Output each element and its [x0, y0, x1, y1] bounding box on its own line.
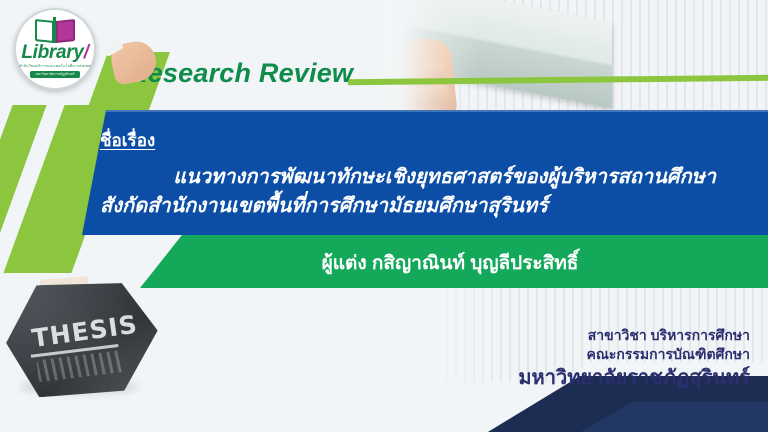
- thesis-chalkboard: THESIS: [3, 279, 161, 399]
- research-title: แนวทางการพัฒนาทักษะเชิงยุทธศาสตร์ของผู้บ…: [96, 163, 756, 221]
- affiliation-faculty: คณะกรรมการบัณฑิตศึกษา: [518, 345, 750, 364]
- library-logo: Library/ สำนักวิทยบริการและเทคโนโลยีสารส…: [14, 8, 96, 90]
- logo-subtitle: สำนักวิทยบริการและเทคโนโลยีสารสนเทศ: [19, 63, 90, 69]
- photo-fade-overlay: [380, 0, 768, 118]
- research-title-line-2: สังกัดสำนักงานเขตพื้นที่การศึกษามัธยมศึก…: [96, 192, 756, 221]
- slide-canvas: Research Review Library/ สำนักวิทยบริการ…: [0, 0, 768, 432]
- research-title-line-1: แนวทางการพัฒนาทักษะเชิงยุทธศาสตร์ของผู้บ…: [96, 163, 756, 192]
- page-title: Research Review: [128, 58, 353, 89]
- affiliation-university: มหาวิทยาลัยราชภัฏสุรินทร์: [518, 365, 750, 392]
- title-label: ชื่อเรื่อง: [100, 127, 155, 154]
- affiliation-department: สาขาวิชา บริหารการศึกษา: [518, 326, 750, 345]
- library-shelf-photo-top: [380, 0, 768, 118]
- band-highlight: [82, 110, 768, 112]
- logo-wordmark: Library/: [21, 43, 88, 62]
- book-page-right: [56, 19, 75, 43]
- author-name: ผู้แต่ง กสิญาณินท์ บุญลีประสิทธิ์: [190, 248, 710, 278]
- affiliation-block: สาขาวิชา บริหารการศึกษา คณะกรรมการบัณฑิต…: [518, 326, 750, 392]
- logo-wordmark-text: Library: [21, 42, 83, 63]
- logo-slash: /: [84, 42, 89, 63]
- logo-subtitle-badge: มหาวิทยาลัยราชภัฏสุรินทร์: [30, 71, 79, 78]
- book-spine: [53, 17, 56, 43]
- open-book-icon: [35, 20, 75, 42]
- book-page-left: [35, 19, 54, 43]
